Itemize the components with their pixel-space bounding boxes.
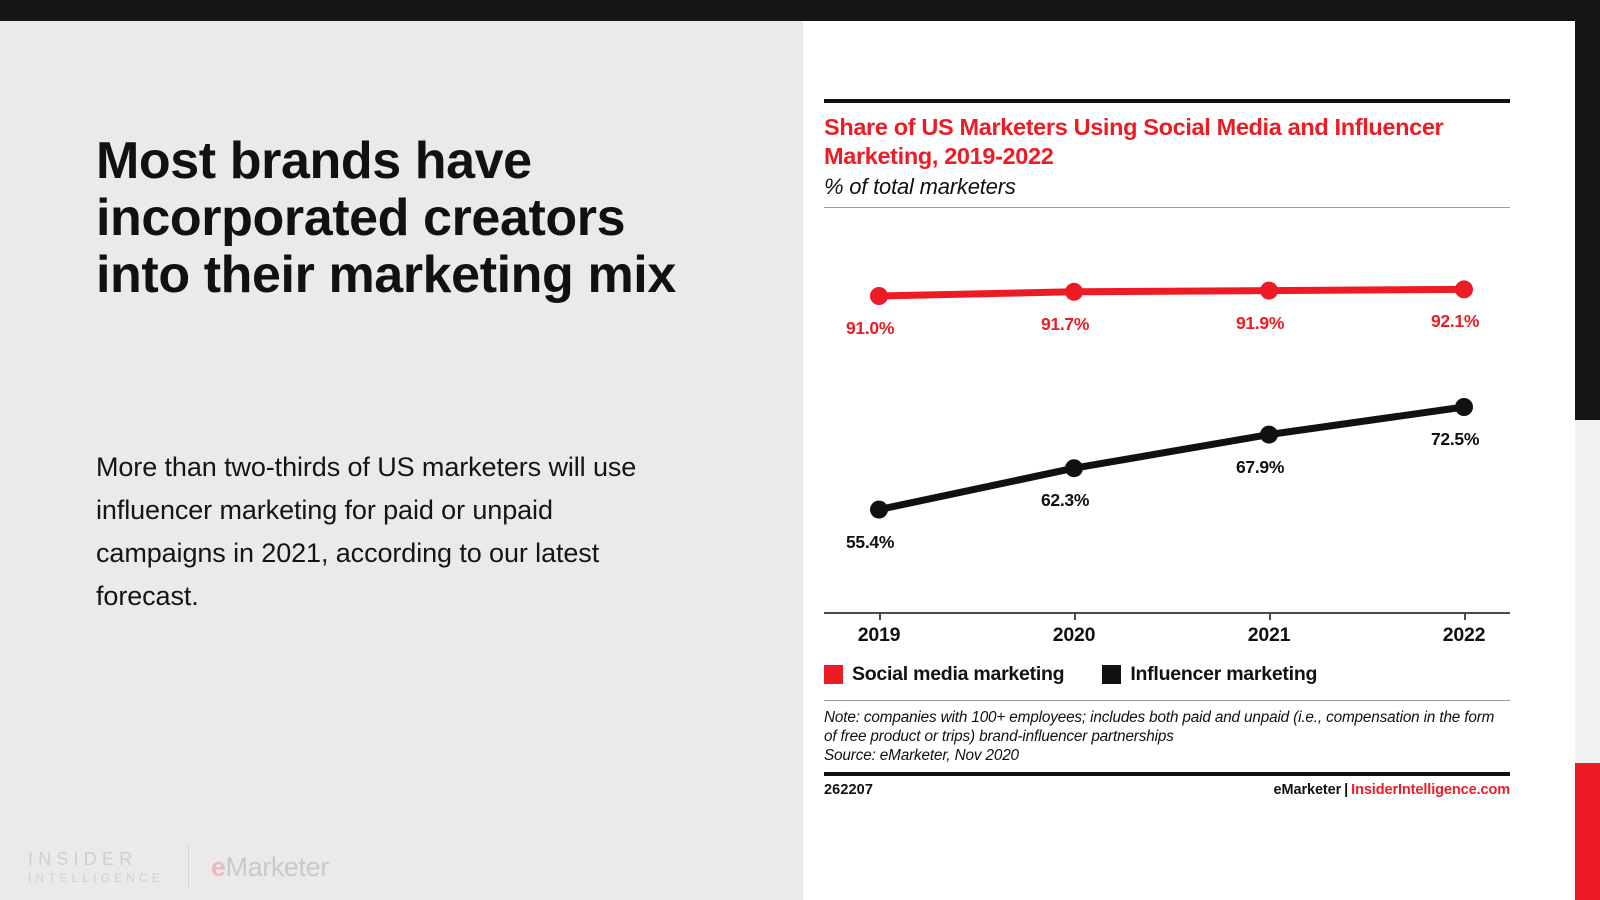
data-label: 55.4%: [846, 532, 894, 553]
data-point-marker: [1065, 283, 1083, 301]
chart-header-rule: [824, 207, 1510, 208]
emarketer-logo: eMarketer: [211, 852, 329, 882]
x-axis-label: 2019: [858, 624, 901, 647]
left-content-panel: Most brands have incorporated creators i…: [0, 21, 803, 900]
legend-label-influencer-marketing: Influencer marketing: [1130, 663, 1317, 686]
data-point-marker: [870, 501, 888, 519]
data-label: 91.7%: [1041, 314, 1089, 335]
chart-legend: Social media marketing Influencer market…: [824, 660, 1510, 688]
data-point-marker: [1455, 280, 1473, 298]
branding-logos: INSIDER INTELLIGENCE eMarketer: [28, 839, 329, 895]
data-label: 62.3%: [1041, 490, 1089, 511]
data-point-marker: [1260, 282, 1278, 300]
chart-note-rule: [824, 700, 1510, 701]
right-edge-red-strip: [1575, 763, 1600, 900]
data-label: 67.9%: [1236, 457, 1284, 478]
x-axis-tick: [1074, 612, 1076, 620]
right-edge-gray-strip: [1575, 420, 1600, 763]
chart-note: Note: companies with 100+ employees; inc…: [824, 708, 1508, 746]
x-axis-label: 2022: [1443, 624, 1486, 647]
chart-source: Source: eMarketer, Nov 2020: [824, 746, 1510, 765]
data-point-marker: [1065, 459, 1083, 477]
chart-bottom-rule: [824, 772, 1510, 776]
page-body-copy: More than two-thirds of US marketers wil…: [96, 446, 676, 618]
series-line-red: [879, 289, 1464, 296]
insider-intelligence-logo: INSIDER INTELLIGENCE: [28, 843, 164, 891]
chart-plot-area: 91.0%91.7%91.9%92.1%55.4%62.3%67.9%72.5%: [824, 212, 1510, 612]
chart-attribution-row: 262207 eMarketer|InsiderIntelligence.com: [824, 782, 1510, 798]
page-headline: Most brands have incorporated creators i…: [96, 133, 716, 304]
data-label: 92.1%: [1431, 311, 1479, 332]
data-point-marker: [1260, 426, 1278, 444]
attribution-brand-link[interactable]: eMarketer|InsiderIntelligence.com: [1274, 782, 1510, 798]
x-axis-label: 2020: [1053, 624, 1096, 647]
right-edge-black-strip: [1575, 21, 1600, 420]
chart-lines-svg: [824, 212, 1510, 612]
data-point-marker: [1455, 398, 1473, 416]
x-axis-line: [824, 612, 1510, 614]
chart-subtitle: % of total marketers: [824, 173, 1510, 200]
chart-title: Share of US Marketers Using Social Media…: [824, 113, 1464, 171]
chart-panel: Share of US Marketers Using Social Media…: [803, 21, 1575, 900]
x-axis-label: 2021: [1248, 624, 1291, 647]
data-point-marker: [870, 287, 888, 305]
x-axis-tick: [879, 612, 881, 620]
chart-id: 262207: [824, 782, 873, 798]
legend-item-social-media-marketing: Social media marketing: [824, 663, 1064, 686]
legend-swatch-black: [1102, 665, 1121, 684]
data-label: 72.5%: [1431, 429, 1479, 450]
attribution-brand: eMarketer: [1274, 782, 1342, 798]
attribution-separator: |: [1341, 782, 1351, 798]
chart-x-axis: 2019202020212022: [824, 612, 1510, 658]
chart-container: Share of US Marketers Using Social Media…: [824, 99, 1510, 799]
emarketer-logo-e: e: [211, 852, 226, 882]
emarketer-logo-text: Marketer: [226, 852, 329, 882]
chart-top-rule: [824, 99, 1510, 103]
series-line-black: [879, 407, 1464, 510]
top-black-bar: [0, 0, 1600, 21]
logo-divider: [188, 845, 189, 889]
attribution-url: InsiderIntelligence.com: [1351, 782, 1510, 798]
x-axis-tick: [1269, 612, 1271, 620]
insider-logo-line2: INTELLIGENCE: [28, 870, 164, 886]
legend-item-influencer-marketing: Influencer marketing: [1102, 663, 1317, 686]
data-label: 91.9%: [1236, 313, 1284, 334]
insider-logo-line1: INSIDER: [28, 848, 164, 870]
legend-label-social-media-marketing: Social media marketing: [852, 663, 1064, 686]
data-label: 91.0%: [846, 318, 894, 339]
x-axis-tick: [1464, 612, 1466, 620]
legend-swatch-red: [824, 665, 843, 684]
